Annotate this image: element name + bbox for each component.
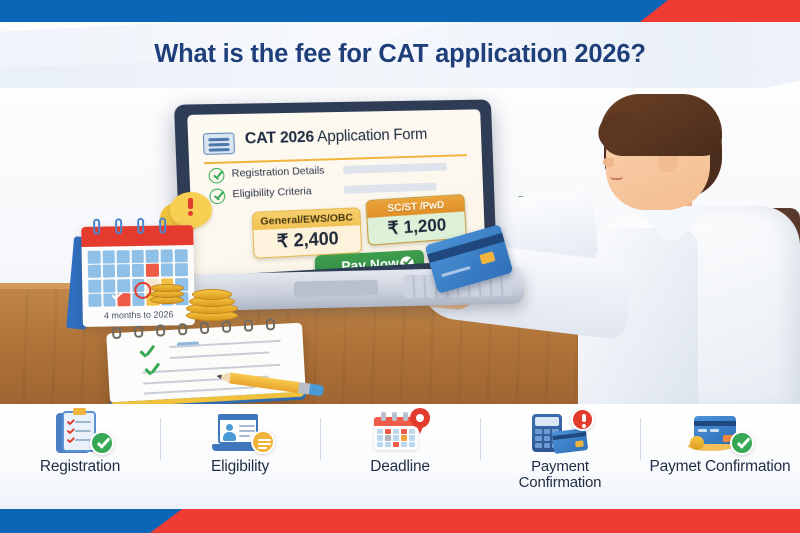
step-label: Registration (40, 459, 120, 476)
step-payment-confirmation[interactable]: Payment Confirmation (480, 404, 640, 504)
top-bar-red-segment (640, 0, 800, 22)
infographic-canvas: What is the fee for CAT application 2026… (0, 0, 800, 533)
checklist-label: Eligibility Criteria (232, 185, 312, 200)
form-title-rest: Application Form (314, 126, 428, 146)
bottom-bar-red-segment (150, 509, 800, 533)
step-label: Eligibility (211, 459, 269, 476)
laptop-profile-icon (208, 410, 272, 454)
coin-stack-icon (150, 274, 190, 308)
step-list: Registration Eligibility (0, 404, 800, 504)
illustration-scene: CAT 2026 Application Form Registration D… (0, 88, 800, 410)
calendar-rings (91, 217, 183, 235)
placeholder-field (344, 182, 437, 193)
step-eligibility[interactable]: Eligibility (160, 404, 320, 504)
calendar-check-icon (111, 292, 123, 299)
check-icon (144, 363, 161, 376)
exclamation-icon (187, 198, 194, 215)
red-location-pin (410, 408, 430, 434)
check-circle-icon (208, 168, 224, 184)
page-title-wrapper: What is the fee for CAT application 2026… (0, 40, 800, 69)
step-label: Paymet Confirmation (650, 459, 791, 476)
placeholder-field (343, 163, 447, 174)
top-bar-blue-segment (0, 0, 690, 22)
orange-document-badge (251, 430, 275, 454)
form-title-bold: CAT 2026 (245, 129, 315, 148)
checklist-label: Registration Details (231, 165, 324, 180)
checklist-item-registration: Registration Details (208, 168, 209, 185)
page-title: What is the fee for CAT application 2026… (0, 40, 800, 69)
red-alert-badge (571, 408, 594, 431)
form-lines-icon (203, 132, 235, 154)
spiral-notebook-icon (106, 323, 306, 404)
pos-terminal-card-icon (528, 410, 592, 454)
desk-calendar: 4 months to 2026 (77, 217, 197, 329)
step-label: Payment Confirmation (519, 459, 602, 491)
green-check-badge (730, 431, 754, 455)
check-icon (139, 345, 156, 358)
step-deadline[interactable]: Deadline (320, 404, 480, 504)
form-title: CAT 2026 Application Form (245, 126, 428, 149)
laptop-touchpad (294, 280, 378, 297)
fee-card-general: General/EWS/OBC ₹ 2,400 (252, 207, 362, 259)
calendar-pin-icon (368, 410, 432, 454)
clipboard-checklist-icon (48, 410, 112, 454)
process-step-strip: Registration Eligibility (0, 404, 800, 509)
coin-stack-icon (186, 284, 246, 324)
credit-card-coins-icon (688, 410, 752, 454)
step-registration[interactable]: Registration (0, 404, 160, 504)
step-label: Deadline (370, 459, 430, 476)
top-brand-bar (0, 0, 800, 22)
calendar-caption: 4 months to 2026 (83, 309, 195, 321)
student-character (540, 88, 800, 410)
step-paymet-confirmation[interactable]: Paymet Confirmation (640, 404, 800, 504)
green-check-badge (90, 431, 114, 455)
bottom-brand-bar (0, 509, 800, 533)
